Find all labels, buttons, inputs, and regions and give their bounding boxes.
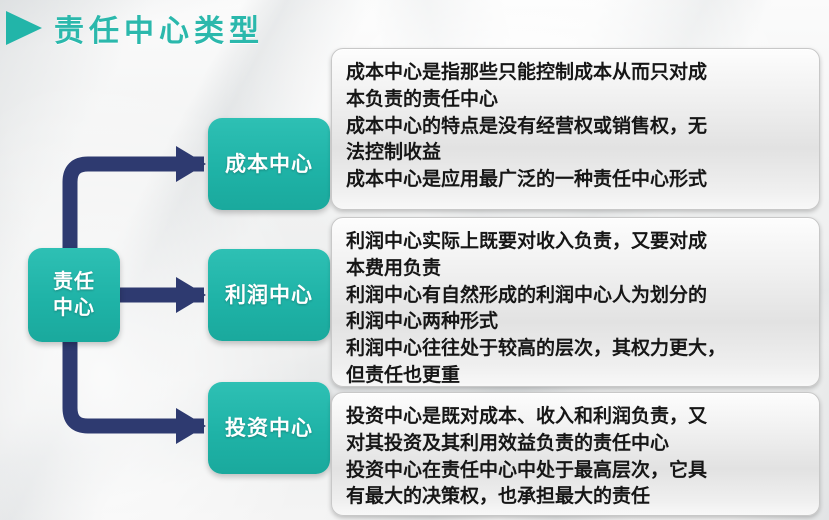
page-title: 责任中心类型	[0, 4, 560, 52]
description-line: 本费用负责	[346, 255, 807, 282]
description-profit-center: 利润中心实际上既要对收入负责，又要对成 本费用负责 利润中心有自然形成的利润中心…	[331, 217, 820, 387]
description-cost-center: 成本中心是指那些只能控制成本从而只对成 本负责的责任中心 成本中心的特点是没有经…	[331, 48, 820, 210]
description-line: 利润中心往往处于较高的层次，其权力更大，	[346, 335, 807, 362]
description-line: 利润中心有自然形成的利润中心人为划分的	[346, 282, 807, 309]
arrow-head-bottom	[176, 408, 206, 444]
description-line: 利润中心两种形式	[346, 308, 807, 335]
description-line: 利润中心实际上既要对收入负责，又要对成	[346, 228, 807, 255]
page-title-text: 责任中心类型	[54, 6, 264, 50]
description-line: 对其投资及其利用效益负责的责任中心	[346, 430, 807, 457]
description-line: 成本中心是指那些只能控制成本从而只对成	[346, 59, 807, 86]
description-investment-center: 投资中心是既对成本、收入和利润负责，又 对其投资及其利用效益负责的责任中心 投资…	[331, 392, 820, 516]
play-triangle-icon	[6, 11, 42, 45]
node-root-label-line2: 中心	[53, 295, 95, 321]
description-line: 但责任也更重	[346, 362, 807, 389]
description-line: 投资中心在责任中心中处于最高层次，它具	[346, 457, 807, 484]
description-line: 成本中心是应用最广泛的一种责任中心形式	[346, 166, 807, 193]
description-line: 法控制收益	[346, 139, 807, 166]
arrow-head-middle	[176, 277, 206, 313]
node-root-label-line1: 责任	[53, 269, 95, 295]
description-line: 成本中心的特点是没有经营权或销售权，无	[346, 113, 807, 140]
node-cost-center-label: 成本中心	[225, 151, 313, 178]
node-investment-center-label: 投资中心	[225, 415, 313, 442]
node-cost-center[interactable]: 成本中心	[208, 118, 330, 210]
description-line: 本负责的责任中心	[346, 86, 807, 113]
node-profit-center[interactable]: 利润中心	[208, 249, 330, 341]
description-line: 有最大的决策权，也承担最大的责任	[346, 483, 807, 510]
node-profit-center-label: 利润中心	[225, 282, 313, 309]
node-responsibility-center[interactable]: 责任 中心	[28, 248, 120, 342]
description-line: 投资中心是既对成本、收入和利润负责，又	[346, 403, 807, 430]
arrow-head-top	[176, 146, 206, 182]
slide-canvas: 责任中心类型 责任 中心 成本中心 利润中心 投资中心 成本中心是指那些只能控制…	[0, 0, 829, 520]
node-investment-center[interactable]: 投资中心	[208, 382, 330, 474]
